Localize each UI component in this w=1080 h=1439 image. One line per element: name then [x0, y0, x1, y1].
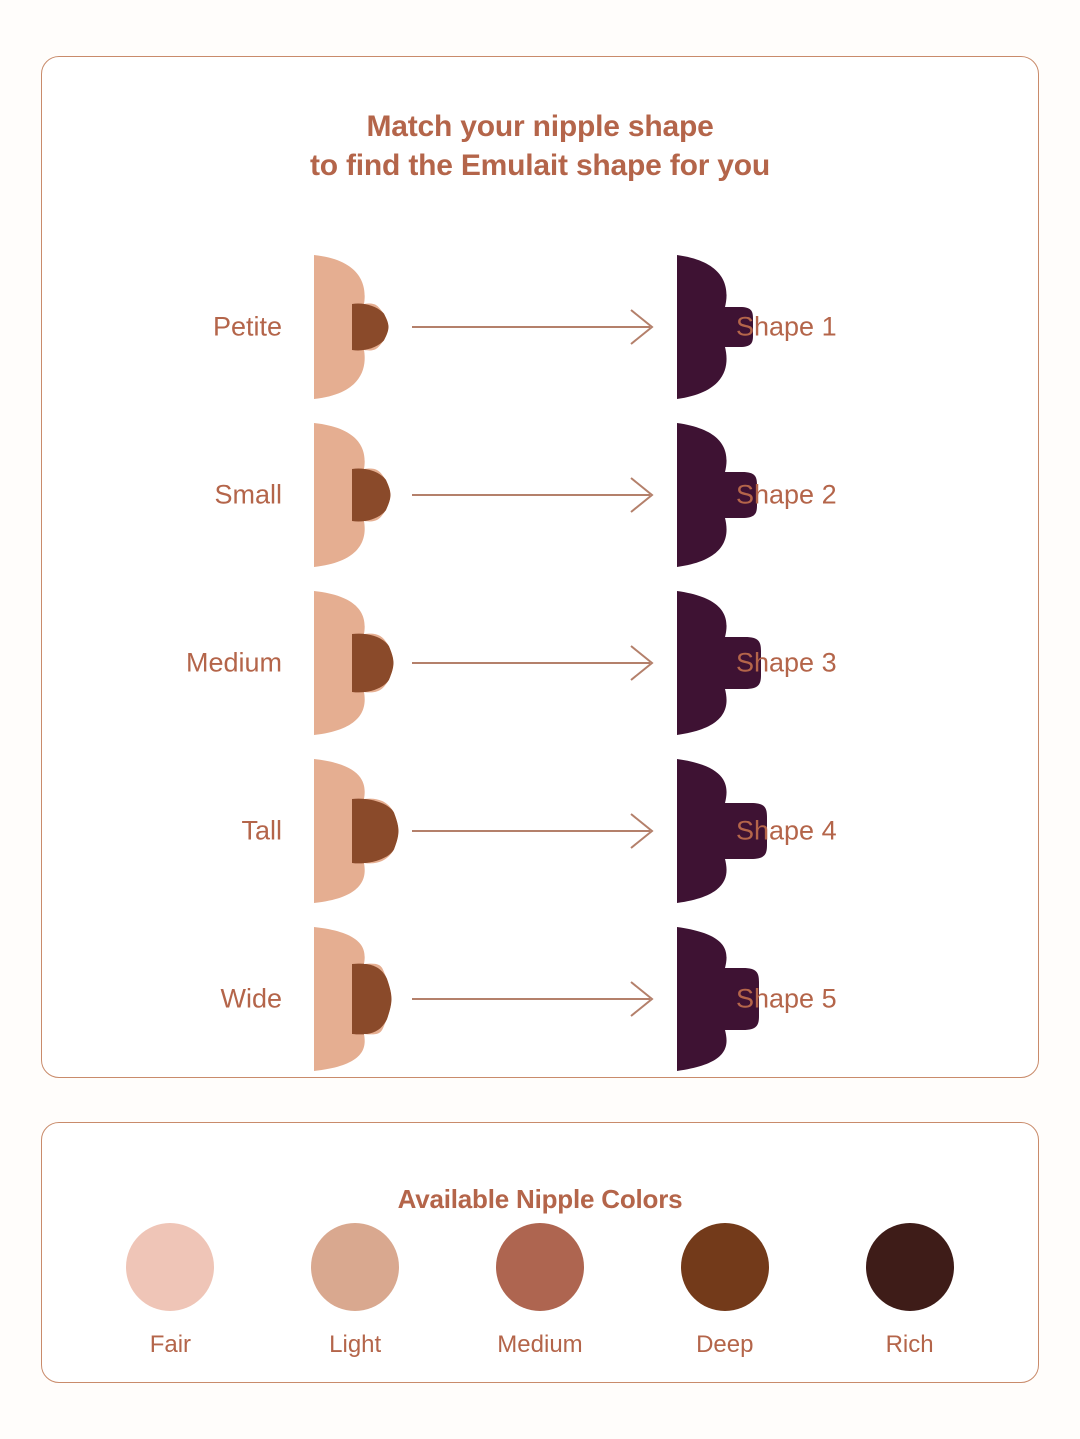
- color-swatch-list: FairLightMediumDeepRich: [42, 1223, 1038, 1359]
- color-swatch-label: Medium: [497, 1331, 582, 1359]
- shape-match-card: Match your nipple shape to find the Emul…: [41, 56, 1039, 1078]
- color-swatch[interactable]: Light: [275, 1223, 435, 1359]
- nipple-shape-label: Tall: [42, 816, 282, 847]
- nipple-profile-illustration: [304, 247, 404, 407]
- shape-row: PetiteShape 1: [42, 243, 1038, 411]
- available-colors-card: Available Nipple Colors FairLightMediumD…: [41, 1122, 1039, 1383]
- shape-row: SmallShape 2: [42, 411, 1038, 579]
- emulait-shape-label: Shape 3: [736, 648, 976, 679]
- nipple-profile-illustration: [304, 919, 404, 1079]
- color-swatch-dot[interactable]: [866, 1223, 954, 1311]
- nipple-profile-illustration: [304, 415, 404, 575]
- color-swatch[interactable]: Rich: [830, 1223, 990, 1359]
- shape-card-title: Match your nipple shape to find the Emul…: [42, 107, 1038, 185]
- arrow-right-icon: [412, 307, 657, 347]
- color-swatch[interactable]: Fair: [90, 1223, 250, 1359]
- nipple-shape-label: Wide: [42, 984, 282, 1015]
- shape-rows-list: PetiteShape 1SmallShape 2MediumShape 3Ta…: [42, 243, 1038, 1083]
- nipple-profile-illustration: [304, 583, 404, 743]
- color-swatch[interactable]: Deep: [645, 1223, 805, 1359]
- arrow-right-icon: [412, 643, 657, 683]
- emulait-shape-label: Shape 5: [736, 984, 976, 1015]
- nipple-shape-label: Medium: [42, 648, 282, 679]
- color-swatch-dot[interactable]: [311, 1223, 399, 1311]
- color-swatch-label: Light: [329, 1331, 381, 1359]
- color-swatch-dot[interactable]: [496, 1223, 584, 1311]
- nipple-profile-illustration: [304, 751, 404, 911]
- color-swatch-label: Fair: [150, 1331, 191, 1359]
- nipple-shape-guide-page: Match your nipple shape to find the Emul…: [0, 0, 1080, 1439]
- emulait-shape-label: Shape 4: [736, 816, 976, 847]
- color-swatch-dot[interactable]: [681, 1223, 769, 1311]
- nipple-shape-label: Petite: [42, 312, 282, 343]
- arrow-right-icon: [412, 811, 657, 851]
- nipple-shape-label: Small: [42, 480, 282, 511]
- color-swatch-label: Deep: [696, 1331, 753, 1359]
- emulait-shape-label: Shape 2: [736, 480, 976, 511]
- arrow-right-icon: [412, 475, 657, 515]
- shape-row: MediumShape 3: [42, 579, 1038, 747]
- colors-card-title: Available Nipple Colors: [42, 1183, 1038, 1215]
- color-swatch-dot[interactable]: [126, 1223, 214, 1311]
- arrow-right-icon: [412, 979, 657, 1019]
- color-swatch-label: Rich: [886, 1331, 934, 1359]
- shape-row: WideShape 5: [42, 915, 1038, 1083]
- emulait-shape-label: Shape 1: [736, 312, 976, 343]
- color-swatch[interactable]: Medium: [460, 1223, 620, 1359]
- shape-row: TallShape 4: [42, 747, 1038, 915]
